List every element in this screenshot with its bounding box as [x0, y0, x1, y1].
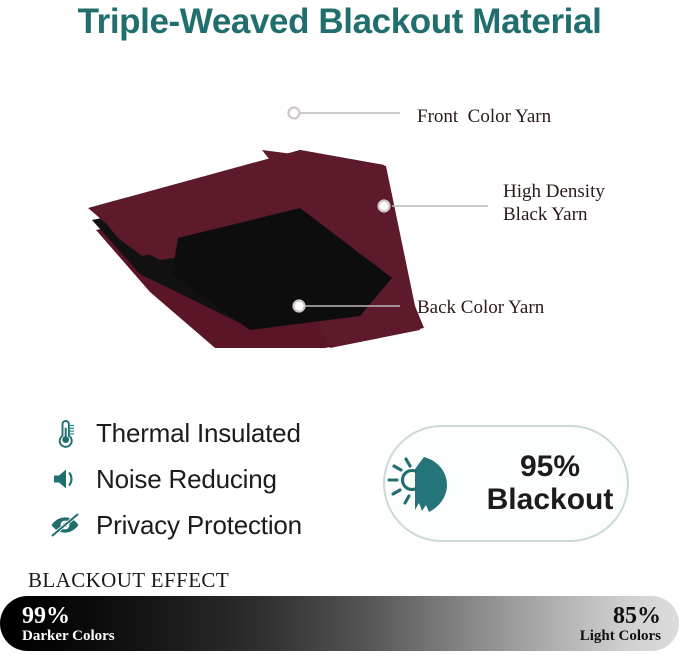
callout-dot-icon-mid [379, 201, 390, 212]
eye-slash-icon [48, 508, 82, 542]
blackout-badge-text: 95% Blackout [473, 451, 627, 516]
label-high-density-black-yarn: High Density Black Yarn [503, 180, 605, 226]
feature-item-noise: Noise Reducing [48, 456, 378, 502]
feature-label-privacy: Privacy Protection [96, 510, 302, 541]
bar-light-percent: 85% [580, 604, 661, 629]
feature-label-thermal: Thermal Insulated [96, 418, 301, 449]
sun-blocked-icon [385, 449, 459, 519]
blackout-percent: 95% [520, 450, 580, 483]
callout-dot-icon-back [294, 301, 305, 312]
bar-light-sublabel: Light Colors [580, 629, 661, 645]
bar-darker-percent: 99% [22, 604, 115, 629]
thermometer-icon [48, 416, 82, 450]
blackout-effect-heading: BLACKOUT EFFECT [28, 568, 229, 593]
page-title: Triple-Weaved Blackout Material [0, 2, 679, 42]
bar-label-darker: 99% Darker Colors [22, 604, 115, 645]
feature-item-thermal: Thermal Insulated [48, 410, 378, 456]
bar-label-light: 85% Light Colors [580, 604, 661, 645]
feature-label-noise: Noise Reducing [96, 464, 277, 495]
bar-darker-sublabel: Darker Colors [22, 629, 115, 645]
blackout-effect-gradient-bar: 99% Darker Colors 85% Light Colors [0, 596, 679, 651]
speaker-sound-icon [48, 462, 82, 496]
label-back-color-yarn: Back Color Yarn [417, 296, 544, 319]
feature-list: Thermal Insulated Noise Reducing Privacy… [48, 410, 378, 548]
callout-dot-icon-front [289, 108, 300, 119]
feature-item-privacy: Privacy Protection [48, 502, 378, 548]
label-front-color-yarn: Front Color Yarn [417, 105, 551, 128]
blackout-badge: 95% Blackout [383, 425, 629, 542]
blackout-word: Blackout [487, 483, 614, 516]
